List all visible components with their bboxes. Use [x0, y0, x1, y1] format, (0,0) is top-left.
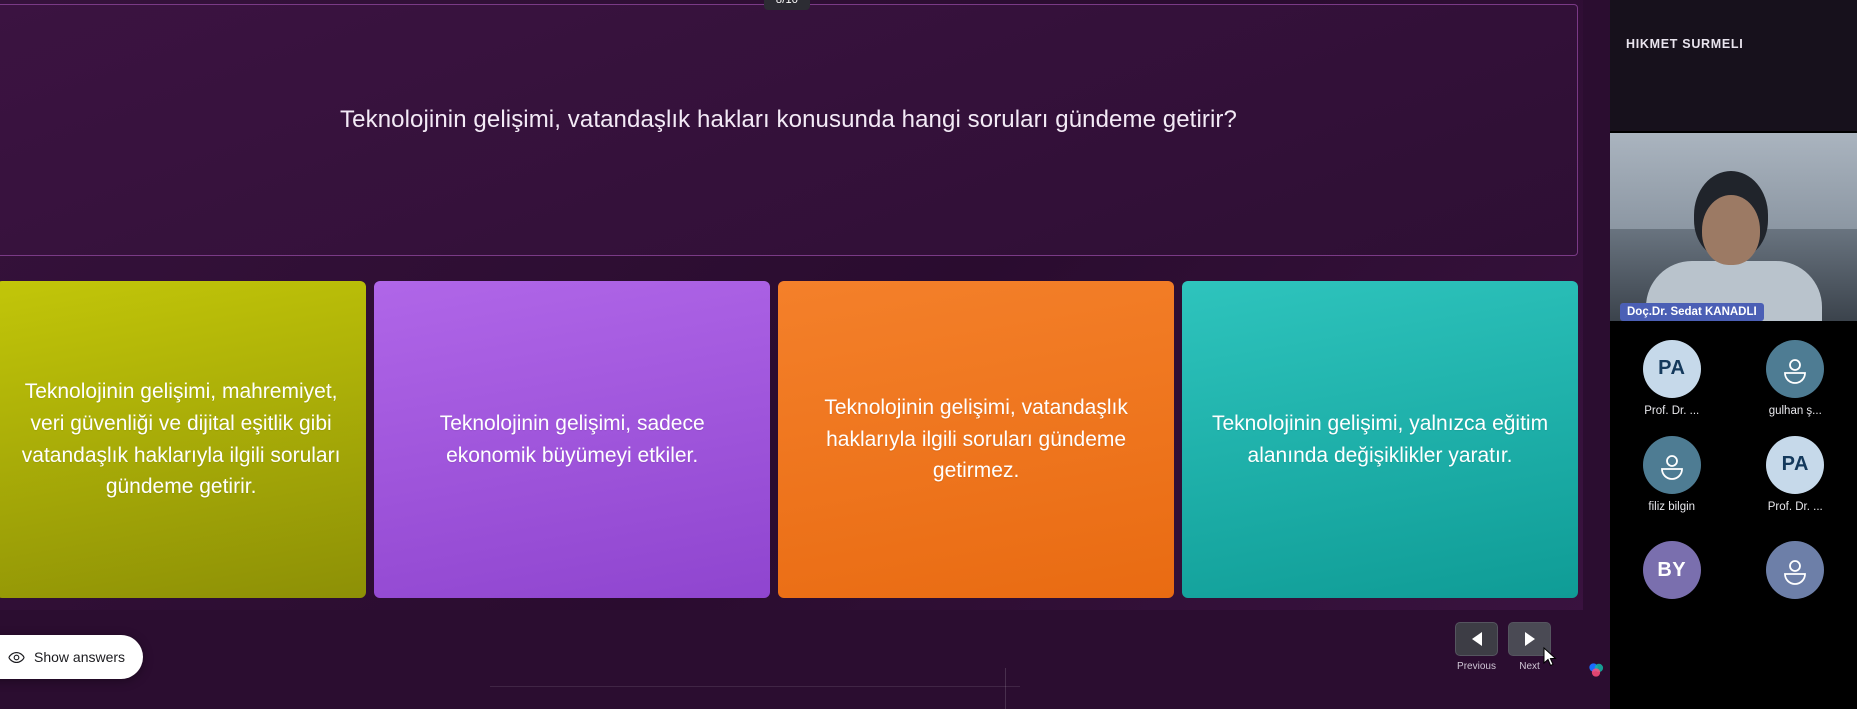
footer-vertical-divider [1005, 668, 1006, 709]
active-camera-tile[interactable]: Doç.Dr. Sedat KANADLI [1610, 133, 1857, 321]
participant-row: filiz bilgin PA Prof. Dr. ... [1610, 426, 1857, 522]
mentimeter-logo-icon [1586, 660, 1606, 680]
answer-card-3[interactable]: Teknolojinin gelişimi, vatandaşlık hakla… [778, 281, 1174, 598]
show-answers-button[interactable]: Show answers [0, 635, 143, 679]
speaker-tile-name: HIKMET SURMELI [1626, 37, 1743, 51]
participant-tile[interactable]: gulhan ş... [1734, 330, 1857, 426]
quiz-slide: 8/10 Teknolojinin gelişimi, vatandaşlık … [0, 0, 1583, 680]
answer-card-4[interactable]: Teknolojinin gelişimi, yalnızca eğitim a… [1182, 281, 1578, 598]
avatar [1766, 340, 1824, 398]
question-panel: Teknolojinin gelişimi, vatandaşlık hakla… [0, 4, 1578, 256]
participant-tile[interactable]: PA Prof. Dr. ... [1734, 426, 1857, 522]
screen-root: 8/10 Teknolojinin gelişimi, vatandaşlık … [0, 0, 1857, 709]
footer-divider-line [490, 686, 1020, 687]
answer-card-2[interactable]: Teknolojinin gelişimi, sadece ekonomik b… [374, 281, 770, 598]
slide-navigation: Previous Next [1455, 622, 1575, 686]
previous-label: Previous [1457, 661, 1496, 672]
person-icon [1780, 555, 1810, 585]
slide-counter-badge: 8/10 [764, 0, 810, 10]
avatar: PA [1643, 340, 1701, 398]
video-sidebar: HIKMET SURMELI Doç.Dr. Sedat KANADLI PA … [1610, 0, 1857, 709]
avatar: PA [1766, 436, 1824, 494]
arrow-right-icon [1525, 632, 1535, 646]
answer-card-3-text: Teknolojinin gelişimi, vatandaşlık hakla… [800, 392, 1152, 488]
person-icon [1780, 354, 1810, 384]
participant-row: BY [1610, 522, 1857, 618]
previous-control[interactable]: Previous [1455, 622, 1498, 686]
person-icon [1657, 450, 1687, 480]
speaker-tile[interactable]: HIKMET SURMELI [1610, 0, 1857, 131]
answer-options: Teknolojinin gelişimi, mahremiyet, veri … [0, 281, 1578, 598]
arrow-left-icon [1472, 632, 1482, 646]
show-answers-label: Show answers [34, 649, 125, 665]
eye-icon [8, 649, 25, 666]
question-text: Teknolojinin gelişimi, vatandaşlık hakla… [340, 106, 1237, 134]
mouse-cursor-icon [1543, 647, 1557, 667]
answer-card-1-text: Teknolojinin gelişimi, mahremiyet, veri … [18, 376, 344, 504]
active-camera-name-badge: Doç.Dr. Sedat KANADLI [1620, 303, 1764, 321]
participant-row: PA Prof. Dr. ... gulhan ş... [1610, 330, 1857, 426]
participant-name: Prof. Dr. ... [1768, 501, 1823, 513]
presentation-stage: 8/10 Teknolojinin gelişimi, vatandaşlık … [0, 0, 1610, 709]
participant-name: Prof. Dr. ... [1644, 405, 1699, 417]
participant-tile[interactable]: filiz bilgin [1610, 426, 1734, 522]
participant-tile[interactable]: BY [1610, 522, 1734, 618]
slide-footer [0, 610, 1583, 680]
answer-card-2-text: Teknolojinin gelişimi, sadece ekonomik b… [396, 408, 748, 472]
participant-name: gulhan ş... [1769, 405, 1822, 417]
participant-tile[interactable]: PA Prof. Dr. ... [1610, 330, 1734, 426]
avatar: BY [1643, 541, 1701, 599]
answer-card-4-text: Teknolojinin gelişimi, yalnızca eğitim a… [1204, 408, 1556, 472]
avatar [1643, 436, 1701, 494]
previous-button[interactable] [1455, 622, 1498, 656]
participant-tile[interactable] [1734, 522, 1857, 618]
next-label: Next [1519, 661, 1540, 672]
camera-person-face [1702, 195, 1760, 265]
avatar [1766, 541, 1824, 599]
answer-card-1[interactable]: Teknolojinin gelişimi, mahremiyet, veri … [0, 281, 366, 598]
participant-name: filiz bilgin [1648, 501, 1695, 513]
participant-grid: PA Prof. Dr. ... gulhan ş... [1610, 330, 1857, 618]
